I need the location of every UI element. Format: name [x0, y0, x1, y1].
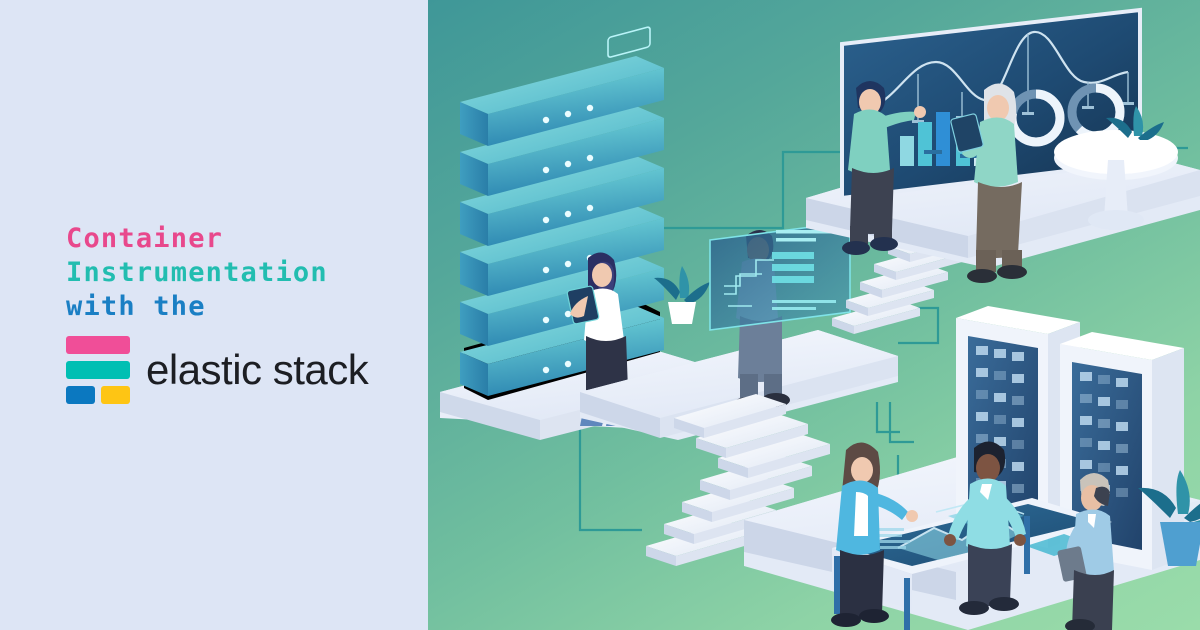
elastic-wordmark: elastic stack	[146, 346, 368, 394]
logo-bar-yellow-icon	[101, 386, 130, 404]
illustration-svg	[428, 0, 1200, 630]
elastic-logo-mark	[62, 334, 134, 406]
page-title: Container Instrumentation with the	[66, 222, 416, 324]
left-text-panel: Container Instrumentation with the elast…	[0, 0, 428, 630]
title-line-3: with the	[66, 290, 416, 324]
poster-canvas: Container Instrumentation with the elast…	[0, 0, 1200, 630]
logo-bar-blue-icon	[66, 386, 95, 404]
logo-bar-pink-icon	[66, 336, 130, 354]
title-line-1: Container	[66, 222, 416, 256]
elastic-stack-logo: elastic stack	[62, 334, 368, 406]
hologram-screen	[710, 222, 850, 330]
isometric-illustration	[428, 0, 1200, 630]
logo-bar-teal-icon	[66, 361, 130, 379]
server-units-group	[460, 27, 664, 396]
title-line-2: Instrumentation	[66, 256, 416, 290]
